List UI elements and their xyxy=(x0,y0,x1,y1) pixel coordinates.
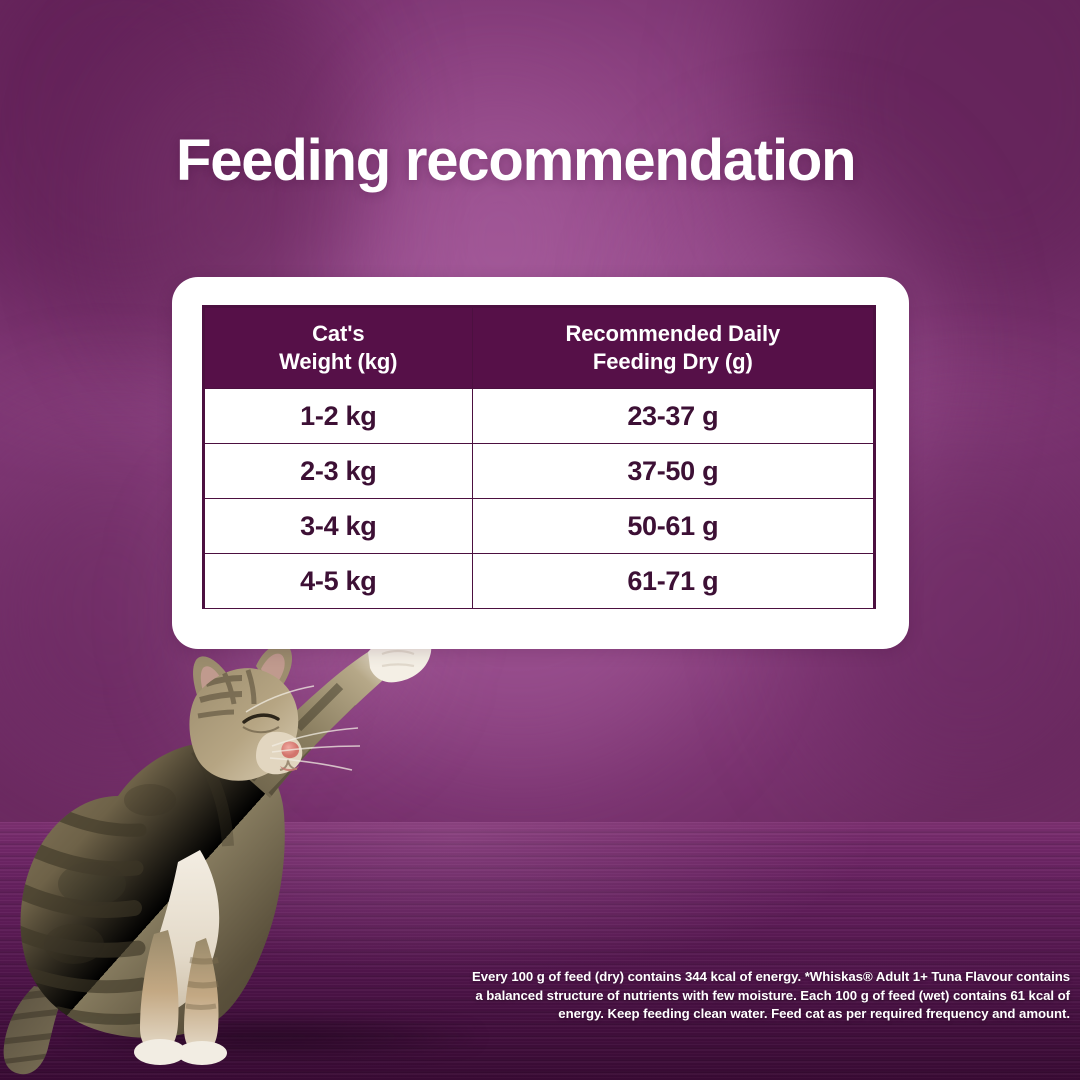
cell-amount: 23-37 g xyxy=(472,389,873,444)
table-header-row: Cat's Weight (kg) Recommended Daily Feed… xyxy=(205,308,874,389)
column-header-weight: Cat's Weight (kg) xyxy=(205,308,473,389)
cell-weight: 3-4 kg xyxy=(205,499,473,554)
table-row: 1-2 kg 23-37 g xyxy=(205,389,874,444)
table-row: 2-3 kg 37-50 g xyxy=(205,444,874,499)
cell-amount: 61-71 g xyxy=(472,554,873,609)
table-row: 4-5 kg 61-71 g xyxy=(205,554,874,609)
feeding-table-card: Cat's Weight (kg) Recommended Daily Feed… xyxy=(172,277,909,649)
feeding-recommendation-table: Cat's Weight (kg) Recommended Daily Feed… xyxy=(204,307,874,609)
table-row: 3-4 kg 50-61 g xyxy=(205,499,874,554)
cell-weight: 1-2 kg xyxy=(205,389,473,444)
feeding-table-wrapper: Cat's Weight (kg) Recommended Daily Feed… xyxy=(202,305,876,609)
column-header-feeding-line1: Recommended Daily xyxy=(479,320,867,348)
column-header-weight-line1: Cat's xyxy=(211,320,466,348)
cell-amount: 50-61 g xyxy=(472,499,873,554)
tabby-cat-image xyxy=(0,600,470,1080)
column-header-feeding: Recommended Daily Feeding Dry (g) xyxy=(472,308,873,389)
cell-amount: 37-50 g xyxy=(472,444,873,499)
page-title: Feeding recommendation xyxy=(176,131,936,192)
column-header-weight-line2: Weight (kg) xyxy=(211,348,466,376)
column-header-feeding-line2: Feeding Dry (g) xyxy=(479,348,867,376)
cell-weight: 4-5 kg xyxy=(205,554,473,609)
cell-weight: 2-3 kg xyxy=(205,444,473,499)
disclaimer-text: Every 100 g of feed (dry) contains 344 k… xyxy=(470,968,1070,1024)
poster-canvas: Feeding recommendation xyxy=(0,0,1080,1080)
